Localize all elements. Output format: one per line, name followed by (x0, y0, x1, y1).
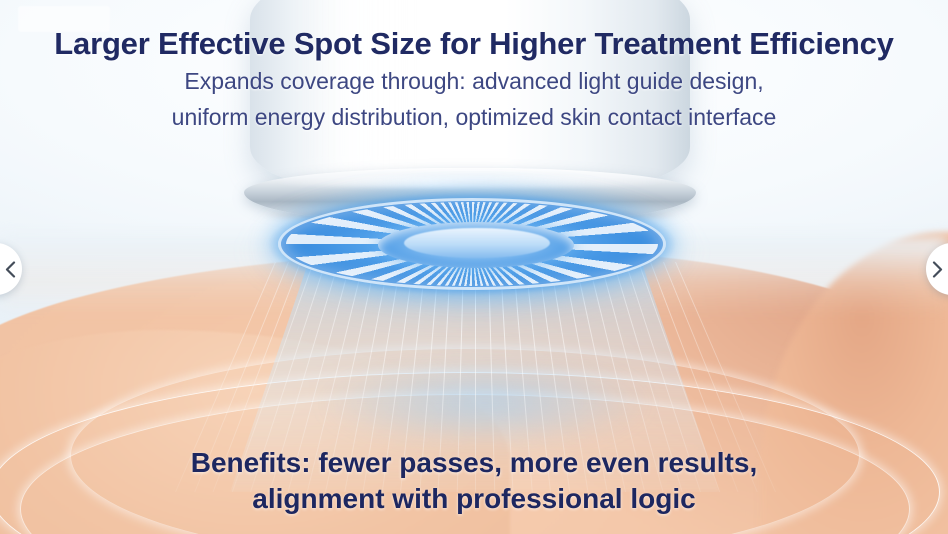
chevron-left-icon (5, 261, 16, 278)
subtitle-line-1: Expands coverage through: advanced light… (0, 68, 948, 95)
benefits-line-2: alignment with professional logic (0, 483, 948, 515)
product-feature-slide: Larger Effective Spot Size for Higher Tr… (0, 0, 948, 534)
page-title: Larger Effective Spot Size for Higher Tr… (0, 26, 948, 62)
subtitle-line-2: uniform energy distribution, optimized s… (0, 104, 948, 131)
chevron-right-icon (932, 261, 943, 278)
benefits-line-1: Benefits: fewer passes, more even result… (0, 447, 948, 479)
aperture-core-highlight (404, 228, 550, 258)
